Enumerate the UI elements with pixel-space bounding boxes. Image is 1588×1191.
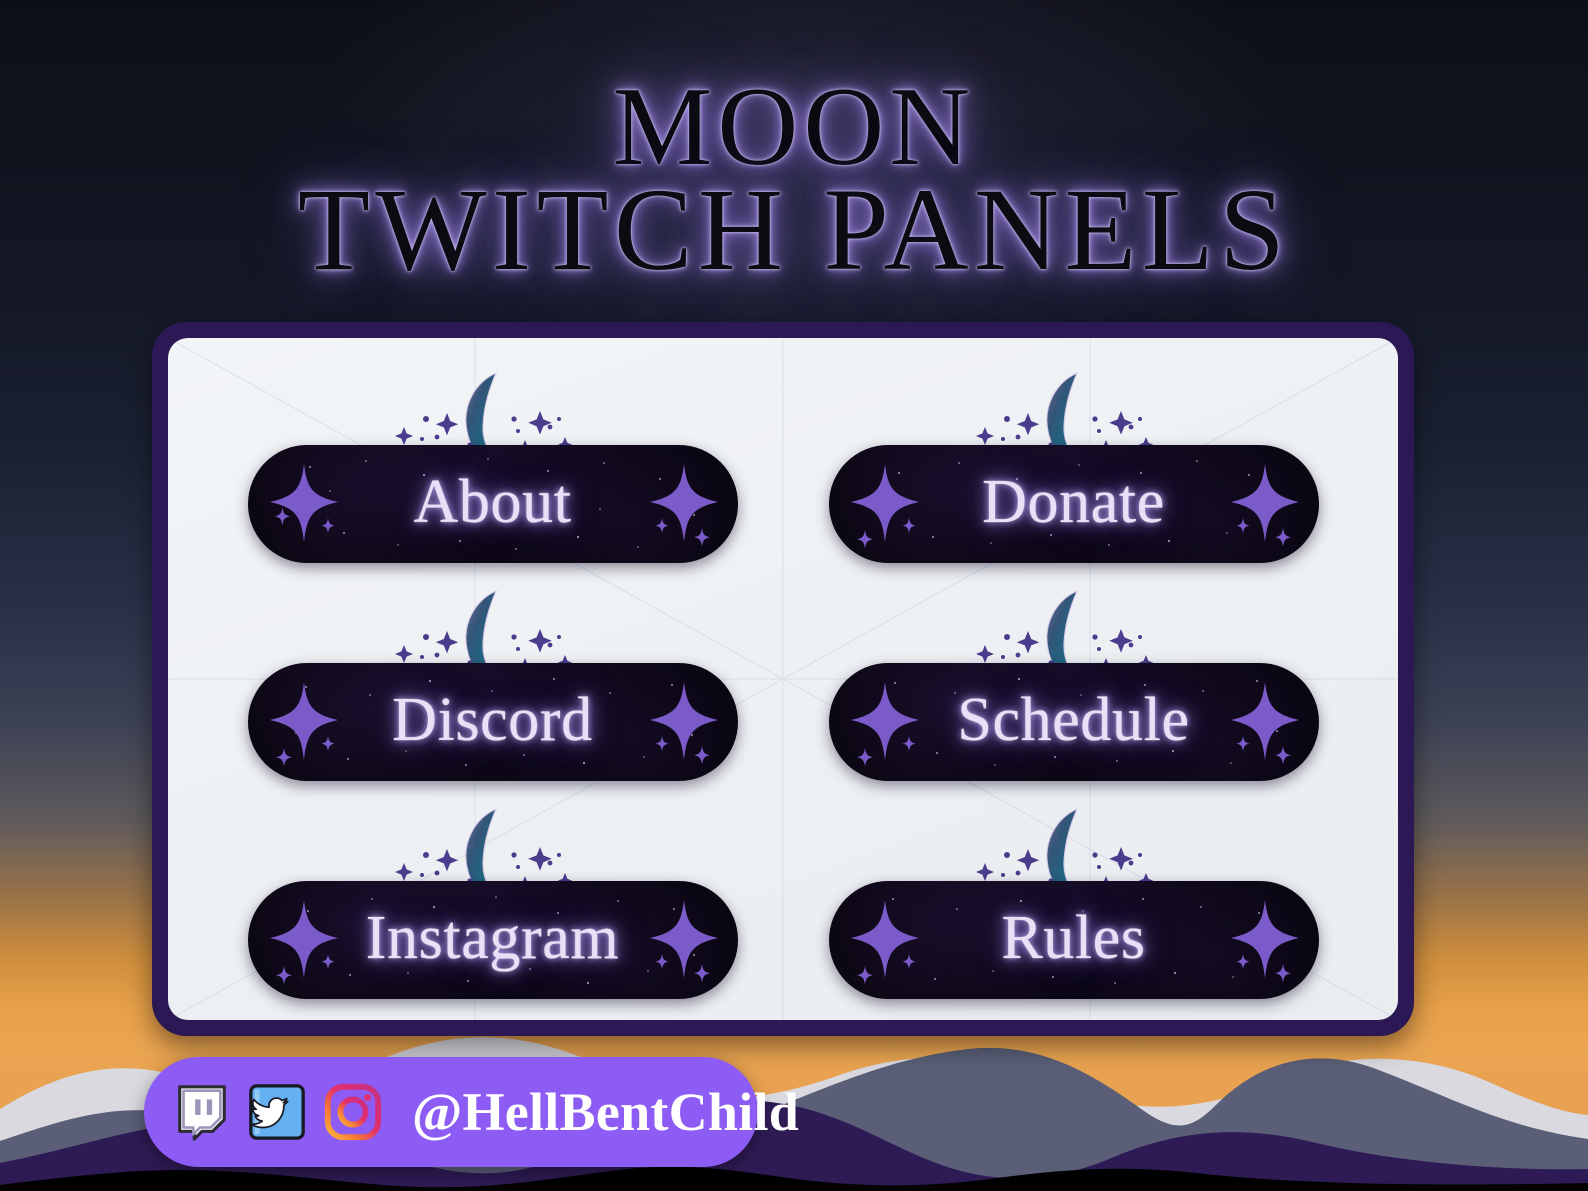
sparkle-star-icon: [260, 892, 346, 988]
panel-pill-rules[interactable]: Rules: [829, 881, 1319, 999]
panel-schedule[interactable]: Schedule: [829, 585, 1319, 781]
sparkle-star-icon: [841, 456, 927, 552]
panel-label: About: [413, 471, 571, 537]
panel-pill-about[interactable]: About: [248, 445, 738, 563]
panel-label: Rules: [1001, 907, 1145, 973]
social-handle-text: @HellBentChild: [412, 1081, 799, 1143]
sparkle-star-icon: [1221, 456, 1307, 552]
instagram-icon[interactable]: [322, 1081, 384, 1143]
panel-label: Discord: [392, 689, 593, 755]
panel-pill-instagram[interactable]: Instagram: [248, 881, 738, 999]
panel-label: Schedule: [957, 689, 1189, 755]
poster-canvas: MOON TWITCH PANELS: [0, 0, 1588, 1191]
twitter-icon[interactable]: [246, 1081, 308, 1143]
sparkle-star-icon: [1221, 674, 1307, 770]
panel-rules[interactable]: Rules: [829, 803, 1319, 999]
social-handle-bar: @HellBentChild: [144, 1057, 758, 1167]
panels-card-surface: About: [168, 338, 1398, 1020]
sparkle-star-icon: [640, 892, 726, 988]
panel-pill-discord[interactable]: Discord: [248, 663, 738, 781]
panel-label: Donate: [982, 471, 1165, 537]
sparkle-star-icon: [260, 456, 346, 552]
panels-card-frame: About: [152, 322, 1414, 1036]
panel-label: Instagram: [366, 907, 620, 973]
sparkle-star-icon: [841, 892, 927, 988]
sparkle-star-icon: [260, 674, 346, 770]
panel-instagram[interactable]: Instagram: [248, 803, 738, 999]
panel-grid: About: [168, 338, 1398, 1020]
panel-discord[interactable]: Discord: [248, 585, 738, 781]
sparkle-star-icon: [640, 674, 726, 770]
twitch-icon[interactable]: [170, 1081, 232, 1143]
panel-about[interactable]: About: [248, 367, 738, 563]
sparkle-star-icon: [640, 456, 726, 552]
panel-donate[interactable]: Donate: [829, 367, 1319, 563]
panel-pill-schedule[interactable]: Schedule: [829, 663, 1319, 781]
sparkle-star-icon: [841, 674, 927, 770]
sparkle-star-icon: [1221, 892, 1307, 988]
panel-pill-donate[interactable]: Donate: [829, 445, 1319, 563]
